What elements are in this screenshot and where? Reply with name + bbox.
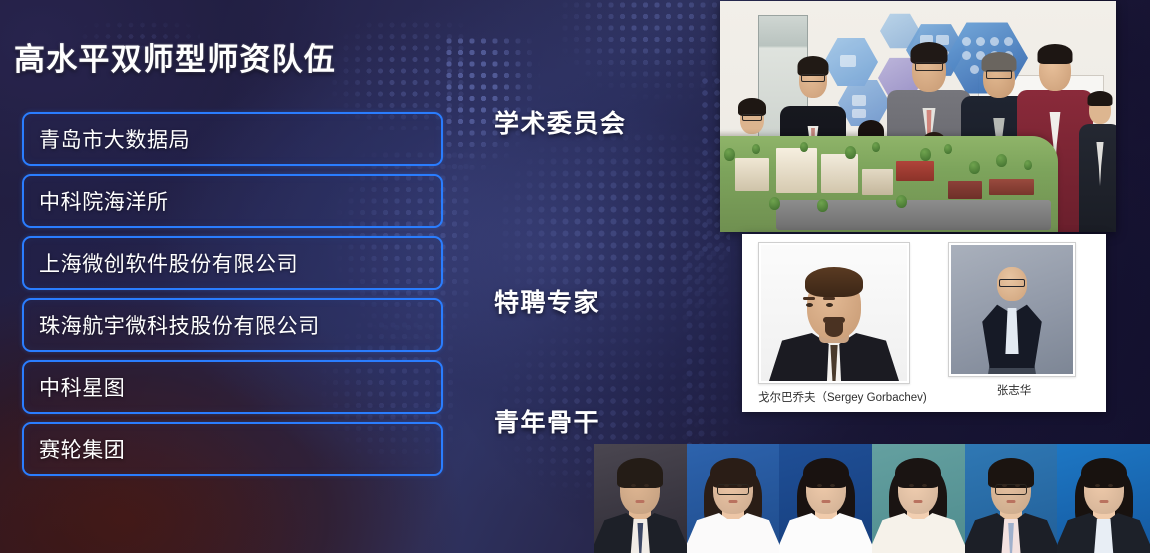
section-label-academic-committee: 学术委员会	[494, 104, 627, 140]
partner-pill-2[interactable]: 中科院海洋所	[22, 174, 443, 228]
left-panel: 高水平双师型师资队伍 青岛市大数据局 中科院海洋所 上海微创软件股份有限公司 珠…	[0, 0, 460, 553]
portrait-eye	[1095, 484, 1100, 487]
expert-portrait-zhangzhihua	[951, 245, 1073, 374]
portrait-eye	[817, 484, 822, 487]
portrait-mouth	[636, 500, 645, 503]
section-label-young-backbone: 青年骨干	[494, 403, 600, 439]
young-backbone-portrait-strip	[594, 444, 1150, 553]
portrait-eye	[1002, 484, 1007, 487]
partner-pill-3[interactable]: 上海微创软件股份有限公司	[22, 236, 443, 290]
expert-item: 戈尔巴乔夫（Sergey Gorbachev)	[758, 242, 914, 405]
partner-pill-label: 青岛市大数据局	[39, 124, 190, 154]
photo-campus-model	[720, 136, 1058, 232]
group-visit-photo	[720, 1, 1116, 232]
model-building	[776, 148, 817, 193]
model-building	[862, 169, 893, 194]
expert-caption: 戈尔巴乔夫（Sergey Gorbachev)	[758, 389, 914, 405]
portrait-mouth	[729, 500, 738, 503]
photo-person	[1078, 66, 1116, 232]
glasses-icon	[995, 484, 1027, 495]
partner-list: 青岛市大数据局 中科院海洋所 上海微创软件股份有限公司 珠海航宇微科技股份有限公…	[22, 112, 443, 484]
model-building	[948, 181, 982, 199]
partner-pill-6[interactable]: 赛轮集团	[22, 422, 443, 476]
portrait-2	[687, 444, 780, 553]
expert-item: 张志华	[948, 242, 1080, 398]
partner-pill-label: 中科星图	[39, 372, 125, 402]
expert-portrait-gorbachev	[761, 245, 907, 381]
partner-pill-label: 珠海航宇微科技股份有限公司	[39, 310, 320, 340]
expert-photo-frame	[948, 242, 1076, 377]
portrait-mouth	[821, 500, 830, 503]
glasses-icon	[717, 484, 749, 495]
partner-pill-label: 赛轮集团	[39, 434, 125, 464]
portrait-eye	[737, 484, 742, 487]
portrait-hair-top	[895, 458, 941, 488]
partner-pill-label: 中科院海洋所	[39, 186, 169, 216]
model-building	[896, 161, 934, 181]
model-building	[821, 154, 859, 193]
portrait-hair-top	[617, 458, 663, 488]
partner-pill-4[interactable]: 珠海航宇微科技股份有限公司	[22, 298, 443, 352]
portrait-5	[965, 444, 1058, 553]
portrait-mouth	[914, 500, 923, 503]
portrait-4	[872, 444, 965, 553]
portrait-eye	[1108, 484, 1113, 487]
page-title: 高水平双师型师资队伍	[14, 44, 336, 75]
partner-pill-label: 上海微创软件股份有限公司	[39, 248, 298, 278]
section-label-appointed-experts: 特聘专家	[494, 283, 600, 319]
slide-canvas: 高水平双师型师资队伍 青岛市大数据局 中科院海洋所 上海微创软件股份有限公司 珠…	[0, 0, 1150, 553]
portrait-mouth	[1007, 500, 1016, 503]
model-building	[989, 179, 1034, 195]
portrait-3	[779, 444, 872, 553]
portrait-hair-top	[1081, 458, 1127, 488]
portrait-eye	[1015, 484, 1020, 487]
portrait-eye	[724, 484, 729, 487]
portrait-eye	[830, 484, 835, 487]
expert-photo-frame	[758, 242, 910, 384]
portrait-1	[594, 444, 687, 553]
portrait-hair-top	[803, 458, 849, 488]
portrait-6	[1057, 444, 1150, 553]
appointed-experts-card: 戈尔巴乔夫（Sergey Gorbachev) 张志华	[742, 234, 1106, 412]
portrait-mouth	[1099, 500, 1108, 503]
halftone-dots-cluster	[560, 0, 730, 118]
partner-pill-1[interactable]: 青岛市大数据局	[22, 112, 443, 166]
expert-caption: 张志华	[948, 382, 1080, 398]
partner-pill-5[interactable]: 中科星图	[22, 360, 443, 414]
model-building	[735, 158, 769, 191]
